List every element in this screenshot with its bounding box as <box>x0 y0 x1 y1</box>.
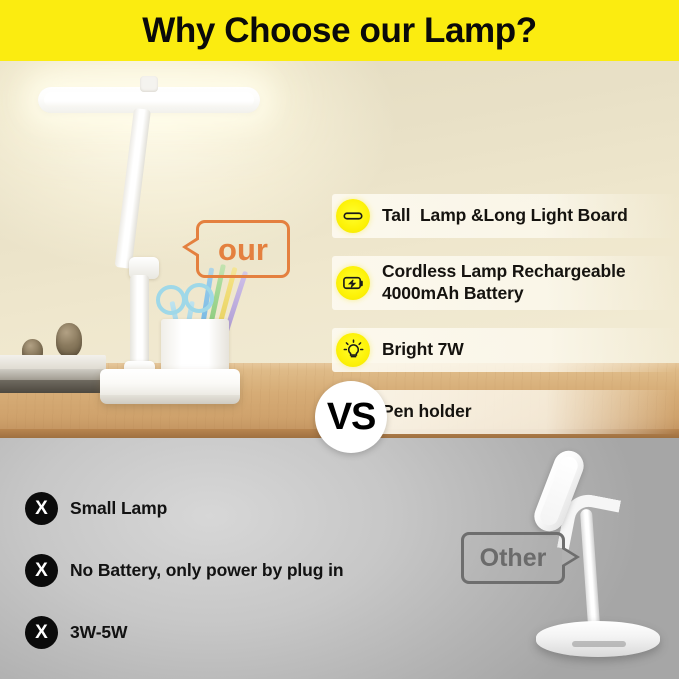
other-lamp-base-slot <box>572 641 626 647</box>
our-lamp-scene: our Tall Lamp &Long Light Board <box>0 61 679 438</box>
lamp-pen-holder <box>161 319 229 375</box>
scissors-ring-left <box>156 285 186 315</box>
x-icon: X <box>25 492 58 525</box>
other-callout-label: Other <box>480 546 547 571</box>
feature-label: Pen holder <box>382 401 471 423</box>
feature-row-brightness: Bright 7W <box>332 328 677 372</box>
con-label: No Battery, only power by plug in <box>70 560 343 581</box>
feature-label: Bright 7W <box>382 339 464 361</box>
con-row-no-battery: X No Battery, only power by plug in <box>25 554 455 587</box>
light-bar-icon <box>336 199 370 233</box>
scissors-ring-right <box>184 283 214 313</box>
our-callout-label: our <box>218 234 268 265</box>
header-banner: Why Choose our Lamp? <box>0 0 679 61</box>
feature-row-battery: Cordless Lamp Rechargeable 4000mAh Batte… <box>332 256 677 310</box>
other-callout-badge: Other <box>461 532 565 584</box>
other-callout-tail-inner <box>562 549 575 565</box>
our-callout-badge: our <box>196 220 290 278</box>
other-lamp-base <box>536 621 660 657</box>
con-label: 3W-5W <box>70 622 127 643</box>
feature-label: Cordless Lamp Rechargeable 4000mAh Batte… <box>382 261 625 305</box>
cons-list: X Small Lamp X No Battery, only power by… <box>25 492 455 678</box>
x-icon: X <box>25 554 58 587</box>
vs-badge: VS <box>315 381 387 453</box>
battery-charge-icon <box>336 266 370 300</box>
con-row-small-lamp: X Small Lamp <box>25 492 455 525</box>
lamp-upper-arm <box>115 108 151 269</box>
page-title: Why Choose our Lamp? <box>142 11 537 51</box>
lamp-top-hinge <box>140 76 158 92</box>
feature-label: Tall Lamp &Long Light Board <box>382 205 628 227</box>
x-icon: X <box>25 616 58 649</box>
lamp-light-bar-glow <box>44 92 254 107</box>
feature-row-light-board: Tall Lamp &Long Light Board <box>332 194 677 238</box>
our-callout-tail-inner <box>187 239 200 255</box>
vs-label: VS <box>327 398 375 436</box>
lamp-base-lip <box>100 395 240 404</box>
con-label: Small Lamp <box>70 498 167 519</box>
lightbulb-icon <box>336 333 370 367</box>
con-row-wattage: X 3W-5W <box>25 616 455 649</box>
infographic-root: Why Choose our Lamp? <box>0 0 679 679</box>
